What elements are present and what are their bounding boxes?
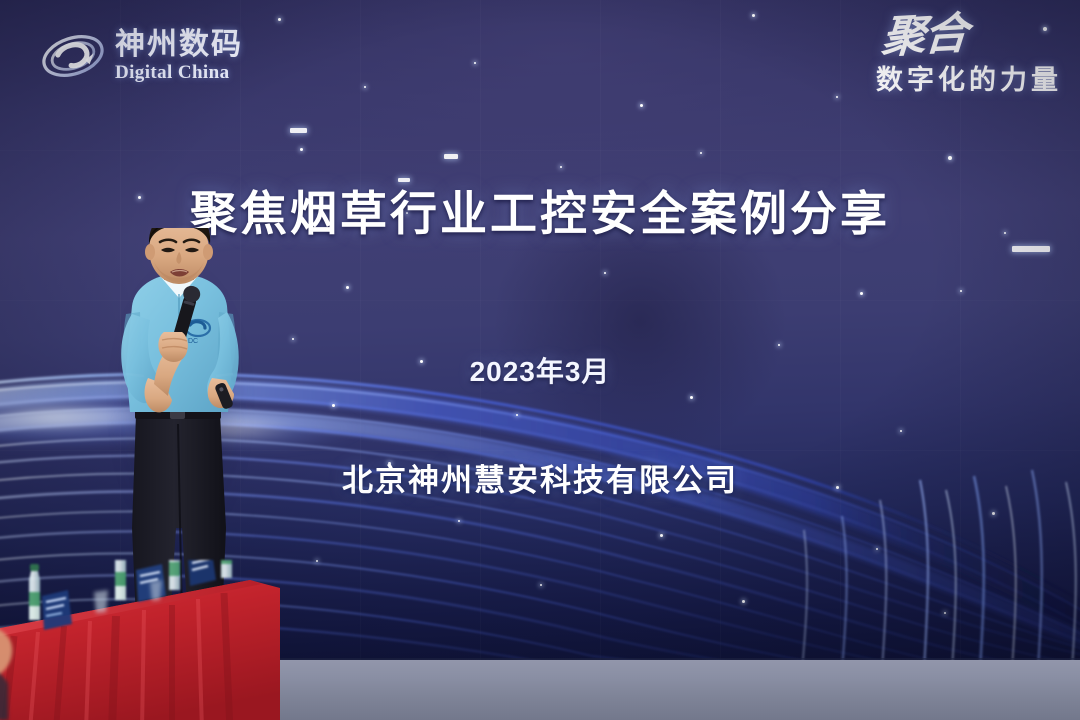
foreground-table	[0, 560, 280, 720]
brand-name-cn: 神州数码	[115, 30, 243, 60]
brand-name-en: Digital China	[115, 63, 243, 82]
brand-logo: 神州数码 Digital China	[40, 20, 290, 92]
slogan-sub-text: 数字化的力量	[802, 58, 1062, 97]
event-slogan: 聚合 数字化的力量	[802, 14, 1062, 114]
conference-stage-photo: 神州数码 Digital China 聚合 数字化的力量 聚焦烟草行业工控安全案…	[0, 0, 1080, 720]
slogan-brush-text: 聚合	[800, 14, 968, 63]
spiral-swirl-icon	[40, 26, 106, 86]
name-card	[188, 560, 216, 586]
svg-text:DC: DC	[188, 338, 198, 345]
